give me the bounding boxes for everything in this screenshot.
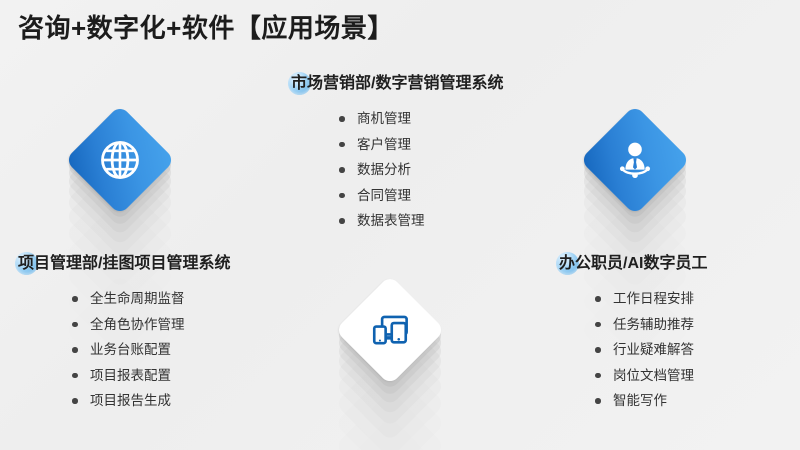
slide-canvas: 咨询+数字化+软件【应用场景】 (0, 0, 800, 450)
group-heading-marketing: 市场营销部/数字营销管理系统 (288, 72, 503, 96)
list-item: 业务台账配置 (70, 337, 230, 363)
group-heading-project: 项目管理部/挂图项目管理系统 (15, 252, 230, 276)
list-item: 数据表管理 (337, 208, 503, 234)
list-item: 项目报告生成 (70, 388, 230, 414)
group-heading-text: 项目管理部/挂图项目管理系统 (18, 255, 230, 272)
list-item: 工作日程安排 (593, 286, 707, 312)
bullet-list-marketing: 商机管理 客户管理 数据分析 合同管理 数据表管理 (337, 106, 503, 234)
list-item: 全生命周期监督 (70, 286, 230, 312)
group-marketing: 市场营销部/数字营销管理系统 商机管理 客户管理 数据分析 合同管理 数据表管理 (288, 72, 503, 234)
list-item: 数据分析 (337, 157, 503, 183)
list-item: 智能写作 (593, 388, 707, 414)
group-heading-text: 市场营销部/数字营销管理系统 (291, 75, 503, 92)
bullet-list-staff: 工作日程安排 任务辅助推荐 行业疑难解答 岗位文档管理 智能写作 (593, 286, 707, 414)
group-staff: 办公职员/AI数字员工 工作日程安排 任务辅助推荐 行业疑难解答 岗位文档管理 … (556, 252, 707, 414)
group-heading-text: 办公职员/AI数字员工 (559, 255, 707, 272)
tile-staff[interactable] (580, 105, 690, 215)
tile-project[interactable] (335, 275, 445, 385)
list-item: 客户管理 (337, 132, 503, 158)
group-project: 项目管理部/挂图项目管理系统 全生命周期监督 全角色协作管理 业务台账配置 项目… (15, 252, 230, 414)
list-item: 合同管理 (337, 183, 503, 209)
businessperson-icon (613, 138, 657, 182)
list-item: 行业疑难解答 (593, 337, 707, 363)
group-heading-staff: 办公职员/AI数字员工 (556, 252, 707, 276)
list-item: 岗位文档管理 (593, 363, 707, 389)
tile-marketing[interactable] (65, 105, 175, 215)
globe-icon (99, 139, 141, 181)
responsive-devices-icon (369, 309, 411, 351)
list-item: 项目报表配置 (70, 363, 230, 389)
list-item: 商机管理 (337, 106, 503, 132)
bullet-list-project: 全生命周期监督 全角色协作管理 业务台账配置 项目报表配置 项目报告生成 (70, 286, 230, 414)
list-item: 任务辅助推荐 (593, 312, 707, 338)
list-item: 全角色协作管理 (70, 312, 230, 338)
page-title: 咨询+数字化+软件【应用场景】 (18, 8, 394, 45)
